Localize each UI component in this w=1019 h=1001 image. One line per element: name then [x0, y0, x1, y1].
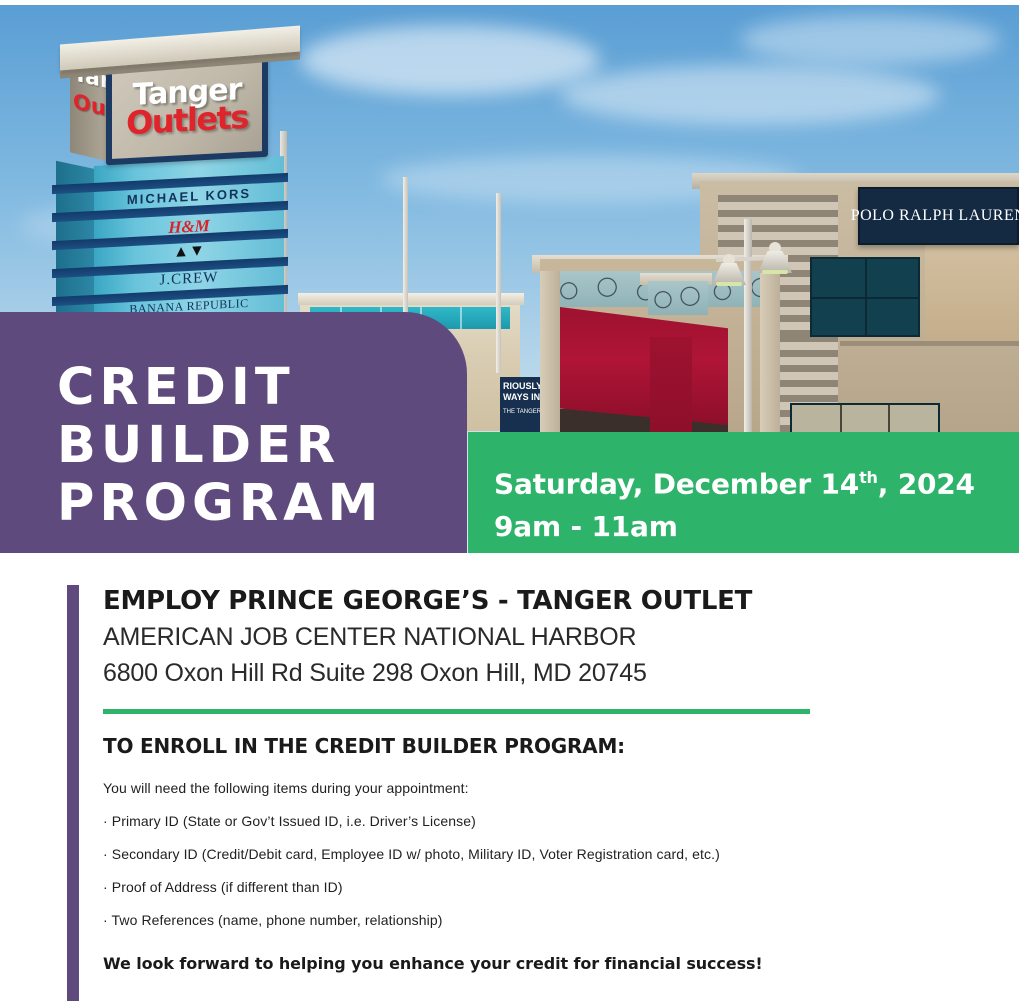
center-name: AMERICAN JOB CENTER NATIONAL HARBOR	[103, 619, 983, 655]
storefront-pillar	[760, 271, 780, 437]
enroll-heading: TO ENROLL IN THE CREDIT BUILDER PROGRAM:	[103, 734, 983, 758]
polo-sign-text: POLO RALPH LAUREN	[851, 207, 1019, 225]
event-date-year: , 2024	[878, 467, 975, 500]
required-items-list: · Primary ID (State or Gov’t Issued ID, …	[103, 813, 983, 928]
lamp-light	[762, 270, 788, 274]
enroll-intro: You will need the following items during…	[103, 780, 983, 796]
date-time-text: Saturday, December 14th, 2024 9am - 11am	[494, 456, 975, 548]
flyer-title: CREDIT BUILDER PROGRAM	[57, 359, 383, 533]
top-white-edge	[0, 0, 1019, 5]
event-date-ordinal: th	[859, 468, 878, 487]
lamp-post	[744, 219, 752, 437]
cloud-decoration	[300, 25, 600, 95]
flag-pole	[496, 193, 501, 373]
polo-ralph-lauren-sign: POLO RALPH LAUREN	[858, 187, 1019, 245]
event-time: 9am - 11am	[494, 505, 975, 548]
date-time-banner: Saturday, December 14th, 2024 9am - 11am	[468, 432, 1019, 553]
building-sill	[840, 341, 1019, 346]
organization-name: EMPLOY PRINCE GEORGE’S - TANGER OUTLET	[103, 583, 983, 619]
tanger-outlets-pylon-sign: MICHAEL KORS H&M ▲▼ J.CREW BANANA REPUBL…	[72, 19, 287, 339]
list-item: · Two References (name, phone number, re…	[103, 912, 983, 928]
venue-address: 6800 Oxon Hill Rd Suite 298 Oxon Hill, M…	[103, 655, 983, 691]
storefront-pillar	[540, 271, 560, 437]
pole-banner-line1: RIOUSLY	[503, 381, 542, 391]
title-line-2: BUILDER	[57, 417, 383, 475]
building-panel	[925, 245, 1019, 345]
event-date: Saturday, December 14th, 2024	[494, 456, 975, 505]
background-building-cap	[298, 293, 524, 305]
pole-banner-line2: WAYS IN	[503, 392, 540, 402]
closing-message: We look forward to helping you enhance y…	[103, 954, 983, 973]
list-item: · Primary ID (State or Gov’t Issued ID, …	[103, 813, 983, 829]
list-item: · Secondary ID (Credit/Debit card, Emplo…	[103, 846, 983, 862]
title-panel: CREDIT BUILDER PROGRAM	[0, 312, 467, 553]
list-item: · Proof of Address (if different than ID…	[103, 879, 983, 895]
event-date-prefix: Saturday, December 14	[494, 467, 859, 500]
vertical-accent-bar	[67, 585, 79, 1001]
details-section: EMPLOY PRINCE GEORGE’S - TANGER OUTLET A…	[0, 553, 1019, 1001]
green-divider	[103, 709, 810, 714]
ironwork-panel	[648, 281, 708, 315]
cloud-decoration	[560, 65, 940, 125]
title-line-3: PROGRAM	[57, 475, 383, 533]
title-line-1: CREDIT	[57, 359, 383, 417]
lamp-light	[716, 282, 742, 286]
cloud-decoration	[740, 15, 1000, 65]
red-awning	[650, 337, 692, 437]
outlets-wordmark: Outlets	[126, 102, 248, 139]
building-window	[810, 257, 920, 337]
